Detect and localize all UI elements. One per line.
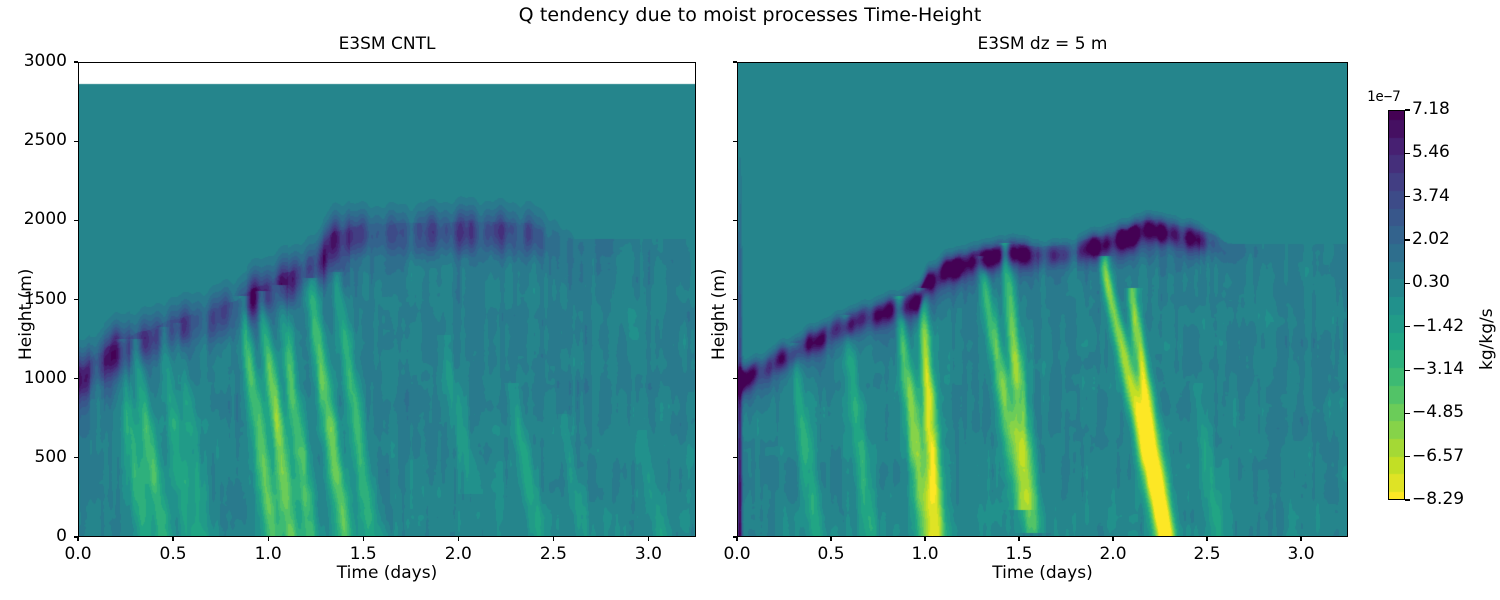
colorbar-tick-mark-0 <box>1405 109 1410 110</box>
ytick-mark-cntl-1 <box>74 457 78 458</box>
xtick-mark-cntl-6 <box>648 537 649 541</box>
xtick-mark-dz5-4 <box>1112 537 1113 541</box>
xtick-mark-cntl-3 <box>363 537 364 541</box>
xtick-label-cntl-3: 1.5 <box>333 544 393 564</box>
ytick-mark-cntl-3 <box>74 299 78 300</box>
colorbar-tick-label-7: −4.85 <box>1412 402 1464 422</box>
colorbar-tick-mark-3 <box>1405 239 1410 240</box>
yaxis-label-cntl: Height (m) <box>16 269 36 360</box>
ytick-mark-dz5-5 <box>733 141 737 142</box>
xtick-label-dz5-6: 3.0 <box>1271 544 1331 564</box>
xtick-label-cntl-4: 2.0 <box>428 544 488 564</box>
ytick-mark-dz5-3 <box>733 299 737 300</box>
xtick-label-dz5-0: 0.0 <box>707 544 767 564</box>
xtick-mark-cntl-1 <box>172 537 173 541</box>
xtick-mark-cntl-4 <box>458 537 459 541</box>
figure-suptitle: Q tendency due to moist processes Time-H… <box>0 4 1500 26</box>
xaxis-label-cntl: Time (days) <box>78 563 696 583</box>
ytick-mark-cntl-6 <box>74 61 78 62</box>
colorbar-tick-mark-8 <box>1405 456 1410 457</box>
colorbar-tick-label-4: 0.30 <box>1412 272 1450 292</box>
colorbar-tick-label-9: −8.29 <box>1412 489 1464 509</box>
ytick-label-cntl-6: 3000 <box>3 51 67 71</box>
xtick-mark-cntl-5 <box>553 537 554 541</box>
ytick-mark-dz5-1 <box>733 457 737 458</box>
ytick-label-cntl-2: 1000 <box>3 368 67 388</box>
xtick-mark-cntl-2 <box>268 537 269 541</box>
colorbar-tick-mark-5 <box>1405 326 1410 327</box>
xtick-label-cntl-2: 1.0 <box>238 544 298 564</box>
xtick-label-dz5-1: 0.5 <box>801 544 861 564</box>
colorbar-tick-mark-7 <box>1405 413 1410 414</box>
colorbar-tick-mark-9 <box>1405 499 1410 500</box>
xtick-mark-dz5-3 <box>1018 537 1019 541</box>
colorbar-tick-label-3: 2.02 <box>1412 229 1450 249</box>
xtick-mark-dz5-5 <box>1206 537 1207 541</box>
figure-canvas: Q tendency due to moist processes Time-H… <box>0 0 1500 600</box>
colorbar-tick-mark-6 <box>1405 370 1410 371</box>
xtick-label-cntl-5: 2.5 <box>523 544 583 564</box>
heatmap-cntl <box>79 63 696 537</box>
ytick-mark-dz5-4 <box>733 220 737 221</box>
ytick-label-cntl-5: 2500 <box>3 130 67 150</box>
colorbar-tick-label-1: 5.46 <box>1412 142 1450 162</box>
ytick-mark-cntl-4 <box>74 220 78 221</box>
plot-area-dz5[interactable] <box>737 62 1348 537</box>
ytick-label-cntl-1: 500 <box>3 447 67 467</box>
colorbar-tick-label-0: 7.18 <box>1412 99 1450 119</box>
ytick-label-cntl-4: 2000 <box>3 209 67 229</box>
xtick-label-cntl-6: 3.0 <box>618 544 678 564</box>
xtick-label-dz5-5: 2.5 <box>1177 544 1237 564</box>
xtick-mark-dz5-2 <box>924 537 925 541</box>
yaxis-label-dz5: Height (m) <box>709 269 729 360</box>
plot-area-cntl[interactable] <box>78 62 696 537</box>
panel-title-dz5: E3SM dz = 5 m <box>737 34 1348 54</box>
xtick-mark-dz5-6 <box>1300 537 1301 541</box>
ytick-mark-cntl-5 <box>74 141 78 142</box>
xtick-label-cntl-1: 0.5 <box>143 544 203 564</box>
colorbar-gradient <box>1389 111 1405 500</box>
colorbar-tick-mark-4 <box>1405 283 1410 284</box>
heatmap-dz5 <box>738 63 1348 537</box>
colorbar-tick-label-8: −6.57 <box>1412 446 1464 466</box>
xtick-mark-dz5-1 <box>830 537 831 541</box>
colorbar-label: kg/kg/s <box>1477 308 1497 370</box>
ytick-mark-dz5-0 <box>733 536 737 537</box>
ytick-mark-dz5-2 <box>733 378 737 379</box>
ytick-mark-cntl-2 <box>74 378 78 379</box>
colorbar-tick-mark-2 <box>1405 196 1410 197</box>
ytick-mark-dz5-6 <box>733 61 737 62</box>
xaxis-label-dz5: Time (days) <box>737 563 1348 583</box>
xtick-label-cntl-0: 0.0 <box>48 544 108 564</box>
colorbar[interactable] <box>1388 110 1405 500</box>
colorbar-tick-label-5: −1.42 <box>1412 316 1464 336</box>
colorbar-tick-mark-1 <box>1405 153 1410 154</box>
colorbar-offset-text: 1e−7 <box>1367 89 1401 105</box>
xtick-label-dz5-3: 1.5 <box>989 544 1049 564</box>
ytick-label-cntl-0: 0 <box>3 526 67 546</box>
panel-title-cntl: E3SM CNTL <box>78 34 696 54</box>
ytick-mark-cntl-0 <box>74 536 78 537</box>
colorbar-tick-label-6: −3.14 <box>1412 359 1464 379</box>
xtick-label-dz5-2: 1.0 <box>895 544 955 564</box>
xtick-label-dz5-4: 2.0 <box>1083 544 1143 564</box>
colorbar-tick-label-2: 3.74 <box>1412 186 1450 206</box>
